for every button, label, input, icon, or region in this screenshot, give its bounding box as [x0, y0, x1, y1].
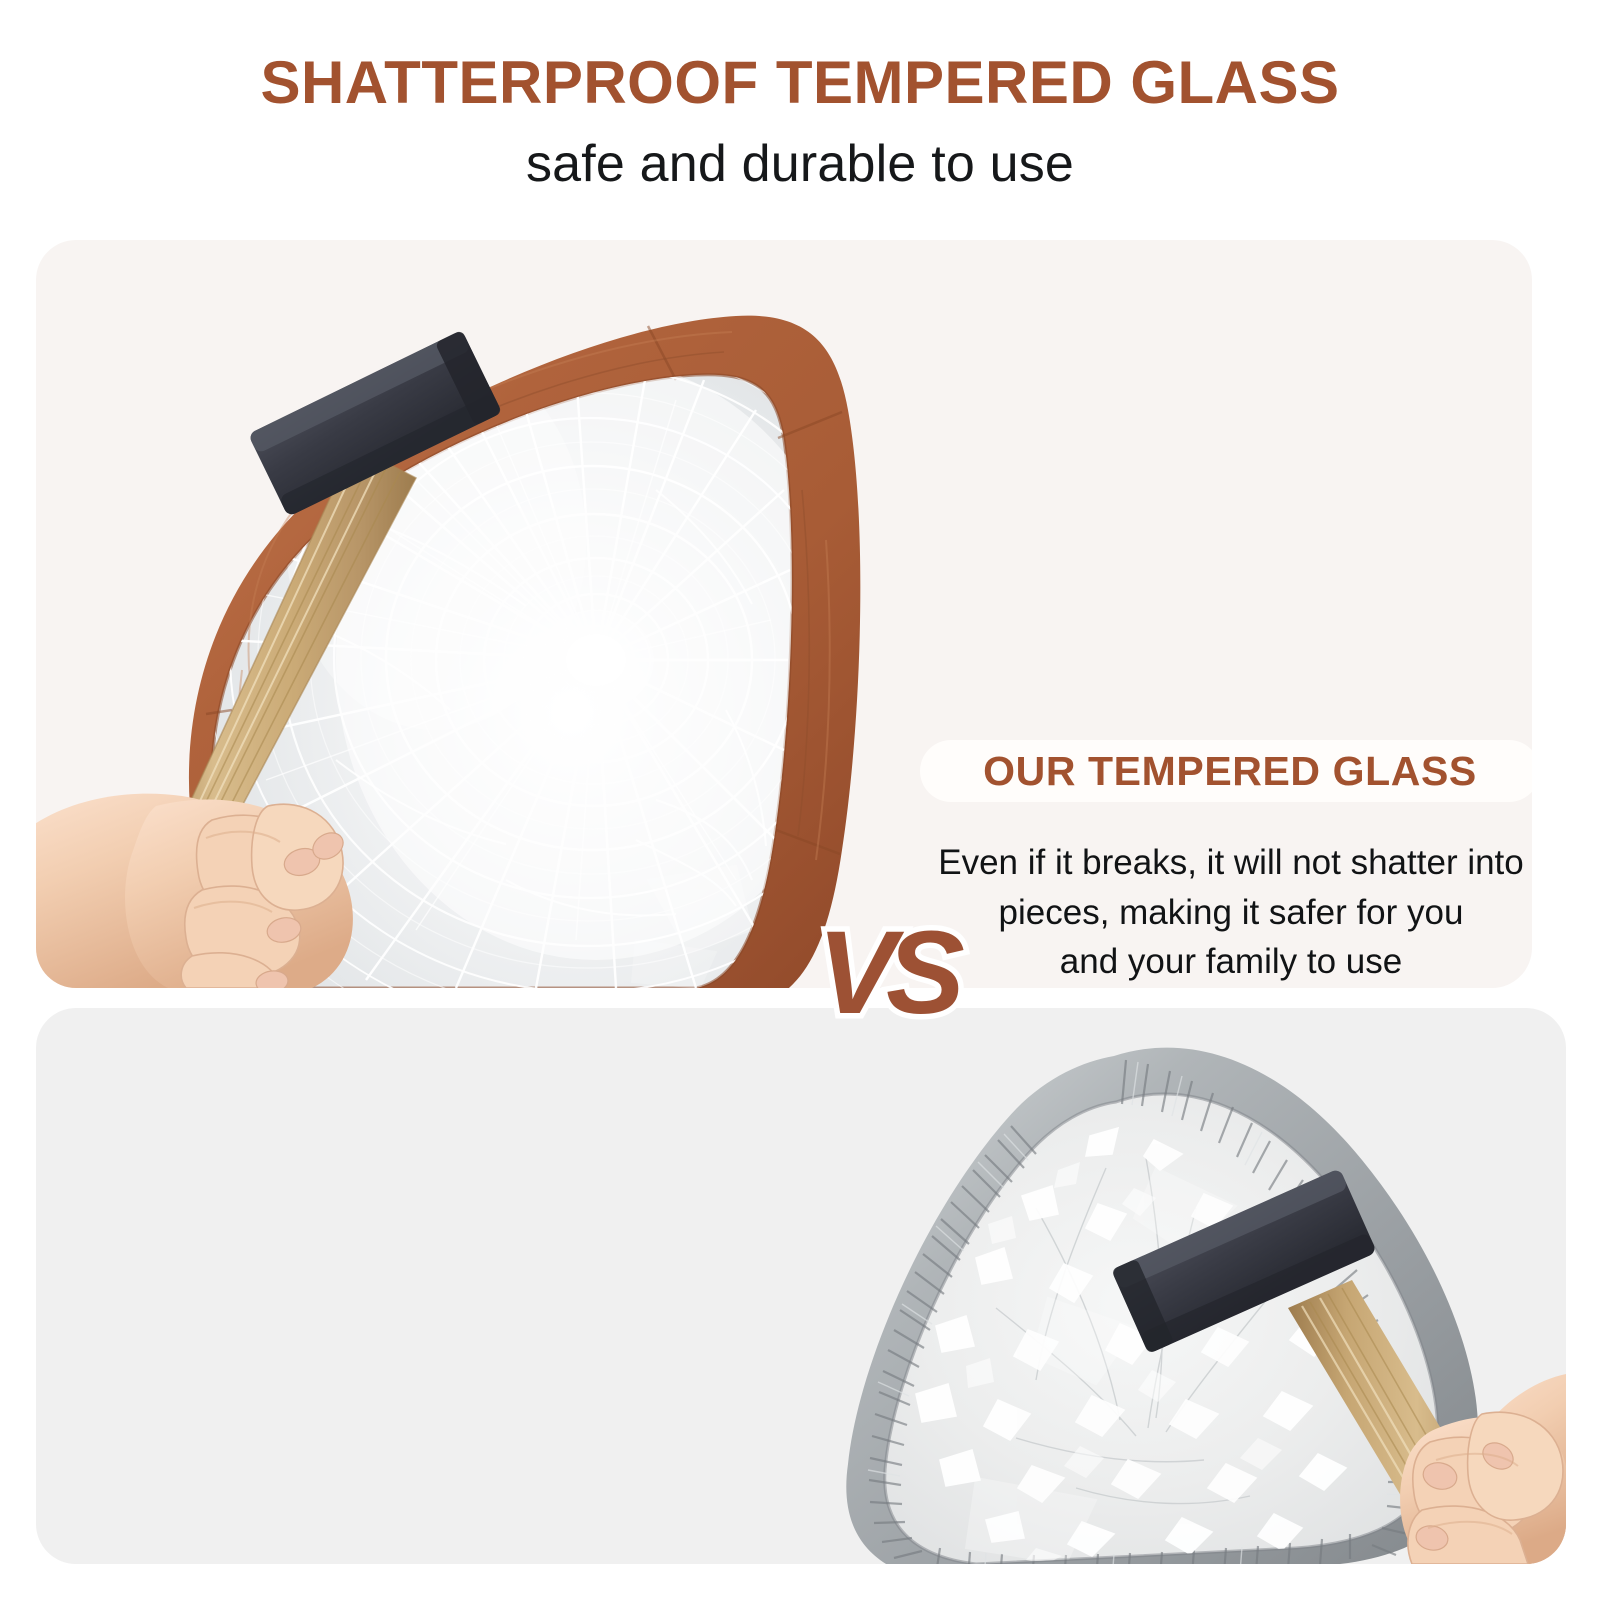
versus-badge: VS: [796, 900, 976, 1046]
infographic-page: SHATTERPROOF TEMPERED GLASS safe and dur…: [0, 0, 1600, 1600]
hand-grip: [36, 794, 353, 988]
ordinary-glass-panel: OTHER ORDINARY GLASS Other's glass mirro…: [36, 1008, 1566, 1564]
page-subtitle: safe and durable to use: [0, 134, 1600, 194]
tempered-glass-panel: OUR TEMPERED GLASS Even if it breaks, it…: [36, 240, 1532, 988]
our-tempered-glass-description: Even if it breaks, it will not shatter i…: [916, 838, 1532, 987]
page-title: SHATTERPROOF TEMPERED GLASS: [0, 48, 1600, 117]
our-tempered-glass-badge-label: OUR TEMPERED GLASS: [983, 748, 1477, 795]
versus-label: VS: [796, 900, 976, 1046]
our-tempered-glass-badge: OUR TEMPERED GLASS: [920, 740, 1532, 802]
ordinary-glass-illustration: [36, 1008, 1566, 1564]
